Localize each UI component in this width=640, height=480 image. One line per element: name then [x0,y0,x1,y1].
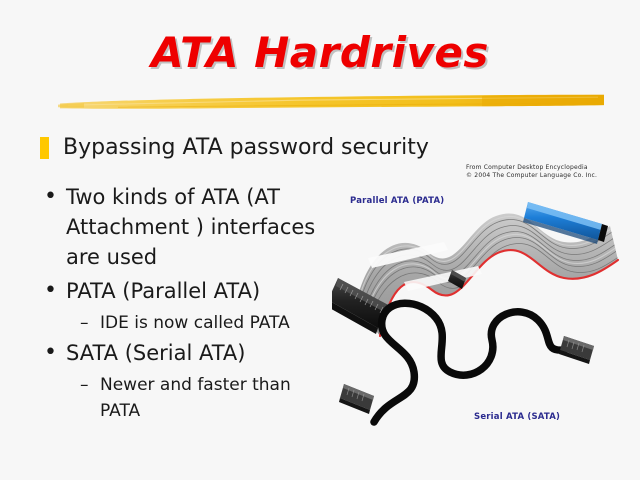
page-title: ATA Hardrives [151,28,489,77]
title-container: ATA Hardrives [0,28,640,77]
slide: ATA Hardrives Bypassing ATA [0,0,640,480]
brush-stroke-svg [58,92,606,112]
list-item: • PATA (Parallel ATA) [44,276,336,306]
credit-line-1: From Computer Desktop Encyclopedia [466,164,630,172]
credit-line-2: © 2004 The Computer Language Co. Inc. [466,172,630,180]
dash-marker-icon: – [80,310,100,336]
list-item-text: Two kinds of ATA (AT Attachment ) interf… [66,182,336,272]
brush-stroke-divider [58,92,606,112]
bullet-marker-icon: • [44,182,66,212]
ata-cables-figure: From Computer Desktop Encyclopedia © 200… [332,160,632,450]
bullet-marker-icon: • [44,338,66,368]
bullet-marker-icon: • [44,276,66,306]
cable-illustration [332,186,632,450]
list-item: • Two kinds of ATA (AT Attachment ) inte… [44,182,336,272]
figure-credit: From Computer Desktop Encyclopedia © 200… [466,164,630,180]
sata-connector-left [339,384,374,414]
heading-label: Bypassing ATA password security [63,136,429,160]
list-item: • SATA (Serial ATA) [44,338,336,368]
list-item: – Newer and faster than PATA [80,372,336,424]
list-item-text: SATA (Serial ATA) [66,338,245,368]
section-heading: Bypassing ATA password security [40,136,429,160]
list-item-text: PATA (Parallel ATA) [66,276,260,306]
list-item-text: IDE is now called PATA [100,310,290,336]
sata-connector-right [559,336,594,364]
list-item: – IDE is now called PATA [80,310,336,336]
pata-ribbon-cable [332,201,620,336]
list-item-text: Newer and faster than PATA [100,372,336,424]
dash-marker-icon: – [80,372,100,398]
heading-marker-icon [40,137,49,159]
bullet-list: • Two kinds of ATA (AT Attachment ) inte… [44,182,336,426]
